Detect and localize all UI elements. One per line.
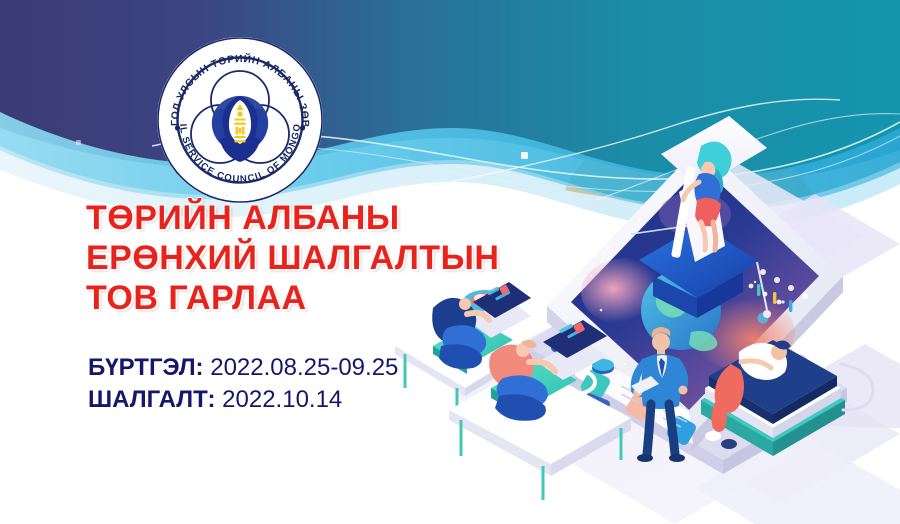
headline-line-1: ТӨРИЙН АЛБАНЫ	[86, 198, 566, 238]
headline-line-3: ТОВ ГАРЛАА	[86, 278, 566, 318]
poster-canvas: МОНГОЛ УЛСЫН ТӨРИЙН АЛБАНЫ ЗӨВЛӨЛ CIVIL …	[0, 0, 900, 524]
dates-block: БҮРТГЭЛ: 2022.08.25-09.25 ШАЛГАЛТ: 2022.…	[88, 352, 508, 416]
civil-service-council-emblem: МОНГОЛ УЛСЫН ТӨРИЙН АЛБАНЫ ЗӨВЛӨЛ CIVIL …	[156, 36, 324, 204]
headline-line-2: ЕРӨНХИЙ ШАЛГАЛТЫН	[86, 238, 566, 278]
registration-date-line: БҮРТГЭЛ: 2022.08.25-09.25	[88, 352, 508, 384]
exam-label: ШАЛГАЛТ:	[88, 386, 215, 413]
exam-date-line: ШАЛГАЛТ: 2022.10.14	[88, 384, 508, 416]
exam-value: 2022.10.14	[222, 386, 342, 413]
registration-label: БҮРТГЭЛ:	[88, 354, 204, 381]
headline-block: ТӨРИЙН АЛБАНЫ ЕРӨНХИЙ ШАЛГАЛТЫН ТОВ ГАРЛ…	[86, 198, 566, 318]
registration-value: 2022.08.25-09.25	[210, 354, 398, 381]
